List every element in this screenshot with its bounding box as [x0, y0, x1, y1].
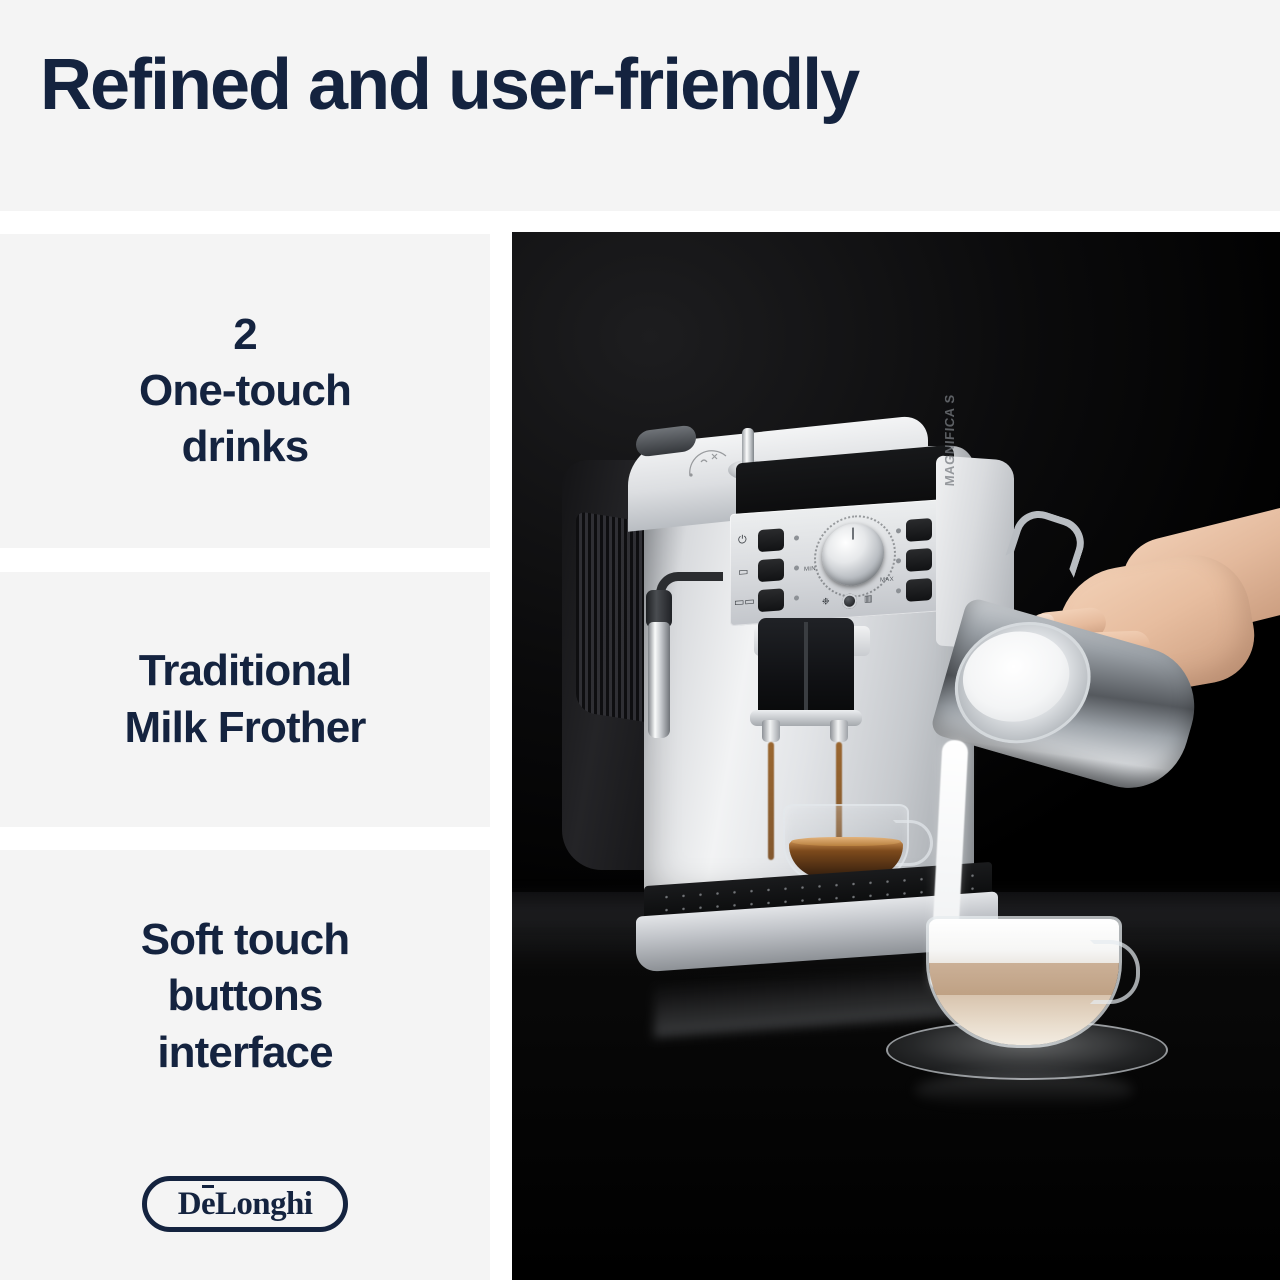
feature-line: drinks [182, 422, 309, 471]
coffee-nozzle-left [762, 720, 780, 742]
feature-line: buttons [168, 971, 323, 1020]
power-icon: ⏻ [738, 535, 747, 547]
espresso-stream-left [768, 742, 774, 860]
power-led [794, 535, 799, 540]
hand-pouring-milk [908, 532, 1280, 952]
two-cups-led [794, 595, 799, 600]
one-cup-icon: ▭ [738, 567, 748, 579]
knob-min-label: MIN [804, 566, 816, 573]
page-title: Refined and user-friendly [40, 48, 858, 124]
two-cups-button [758, 588, 784, 612]
header-band: Refined and user-friendly [0, 0, 1280, 211]
cappuccino-reflection [914, 1072, 1134, 1108]
delonghi-logo: DeLonghi [142, 1176, 348, 1232]
feature-line: Soft touch [141, 915, 350, 964]
one-long-cup-led [896, 558, 901, 563]
feature-line: interface [157, 1028, 332, 1077]
delonghi-logo-text: DeLonghi [178, 1188, 313, 1221]
steam-led [896, 528, 901, 533]
ground-coffee-icon: ▥ [864, 594, 873, 604]
coffee-spout-housing [758, 618, 854, 718]
knob-max-label: MAX [880, 577, 894, 584]
espresso-crema [791, 837, 901, 846]
machine-model-text: MAGNIFICA S [942, 394, 957, 487]
grind-selector-dial[interactable] [842, 593, 857, 609]
feature-line: 2 [233, 310, 257, 359]
cappuccino-cup-group [904, 910, 1144, 1080]
feature-card-one-touch-drinks: 2 One-touch drinks [0, 234, 490, 548]
feature-text-one-touch-drinks: 2 One-touch drinks [139, 307, 351, 476]
infographic-page: Refined and user-friendly 2 One-touch dr… [0, 0, 1280, 1280]
feature-text-soft-touch-buttons: Soft touch buttons interface [40, 912, 450, 1081]
spout-divider [804, 622, 808, 718]
cappuccino-cup-handle [1090, 940, 1140, 1004]
one-cup-led [794, 565, 799, 570]
two-long-cups-led [896, 588, 901, 593]
feature-line: Milk Frother [125, 703, 366, 752]
coffee-nozzle-right [830, 720, 848, 742]
milk-frother-wand [648, 622, 670, 738]
logo-prefix: D [178, 1186, 201, 1222]
feature-line: Traditional [139, 646, 352, 695]
feature-text-milk-frother: Traditional Milk Frother [125, 643, 366, 756]
two-cups-icon: ▭▭ [734, 596, 755, 608]
feature-column: 2 One-touch drinks Traditional Milk Frot… [0, 234, 490, 1280]
power-button [758, 528, 784, 552]
logo-suffix: Longhi [215, 1186, 312, 1222]
logo-macron-letter: e [201, 1188, 215, 1221]
feature-card-soft-touch-buttons: Soft touch buttons interface DeLonghi [0, 850, 490, 1280]
steam-indicator-markings [686, 450, 732, 480]
feature-card-milk-frother: Traditional Milk Frother [0, 572, 490, 827]
bean-icon: ❉ [822, 597, 830, 607]
one-cup-button [758, 558, 784, 582]
feature-line: One-touch [139, 366, 351, 415]
product-photo: ⏻ ▭ ▭▭ MIN MAX ❉ ▥ ⏻ ▽ [512, 232, 1280, 1280]
